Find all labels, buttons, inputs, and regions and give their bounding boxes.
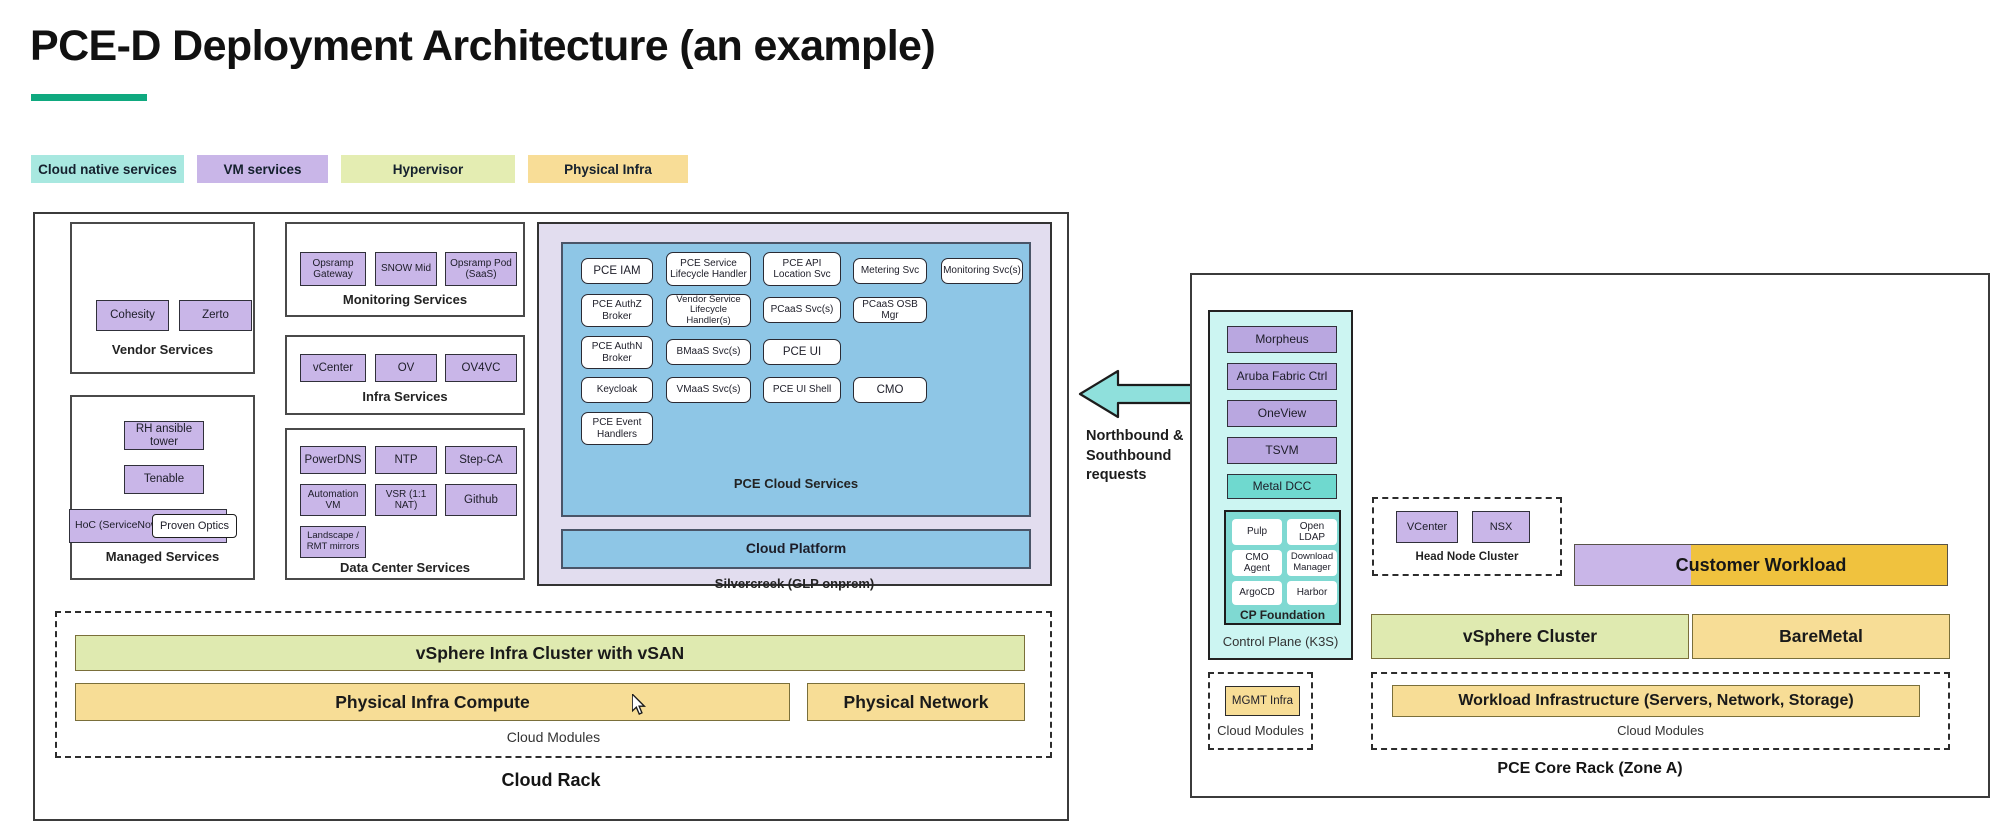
control-plane-box: Morpheus Aruba Fabric Ctrl OneView TSVM …: [1208, 310, 1353, 660]
node-cmo-agent[interactable]: CMO Agent: [1232, 550, 1282, 576]
node-monitoring-svcs[interactable]: Monitoring Svc(s): [941, 258, 1023, 284]
node-vcenter-head[interactable]: VCenter: [1396, 511, 1458, 543]
node-pcaas-svcs[interactable]: PCaaS Svc(s): [763, 297, 841, 323]
managed-services-box: RH ansible tower Tenable HoC (ServiceNow…: [70, 395, 255, 580]
node-pcaas-osb-mgr[interactable]: PCaaS OSB Mgr: [853, 297, 927, 323]
legend-item-hypervisor: Hypervisor: [341, 155, 515, 183]
mgmt-cloud-modules-caption: Cloud Modules: [1210, 723, 1311, 738]
node-vmaas-svcs[interactable]: VMaaS Svc(s): [666, 377, 751, 403]
customer-workload-label: Customer Workload: [1676, 555, 1847, 576]
node-zerto[interactable]: Zerto: [179, 300, 252, 331]
infra-services-caption: Infra Services: [287, 389, 523, 404]
node-cohesity[interactable]: Cohesity: [96, 300, 169, 331]
silvercreek-caption: Silvercreek (GLP onprem): [539, 576, 1050, 591]
monitoring-services-caption: Monitoring Services: [287, 292, 523, 307]
legend: Cloud native services VM services Hyperv…: [31, 155, 688, 183]
control-plane-caption: Control Plane (K3S): [1210, 634, 1351, 649]
workload-cloud-modules-caption: Cloud Modules: [1373, 723, 1948, 738]
node-bmaas-svcs[interactable]: BMaaS Svc(s): [666, 339, 751, 365]
node-snow-mid[interactable]: SNOW Mid: [375, 252, 437, 286]
node-vcenter[interactable]: vCenter: [300, 354, 366, 382]
node-nsx[interactable]: NSX: [1472, 511, 1530, 543]
node-pulp[interactable]: Pulp: [1232, 519, 1282, 545]
node-metal-dcc[interactable]: Metal DCC: [1227, 474, 1337, 499]
cloud-modules-left-caption: Cloud Modules: [57, 729, 1050, 745]
node-opsramp-gateway[interactable]: Opsramp Gateway: [300, 252, 366, 286]
infra-services-box: vCenter OV OV4VC Infra Services: [285, 335, 525, 415]
node-harbor[interactable]: Harbor: [1287, 581, 1337, 605]
node-ntp[interactable]: NTP: [375, 446, 437, 474]
vendor-services-box: Cohesity Zerto Vendor Services: [70, 222, 255, 374]
cp-foundation-box: Pulp Open LDAP CMO Agent Download Manage…: [1224, 510, 1341, 625]
node-rh-ansible-tower[interactable]: RH ansible tower: [124, 421, 204, 450]
mouse-cursor: [632, 694, 647, 716]
customer-workload-vm-segment: [1575, 545, 1691, 585]
vendor-services-caption: Vendor Services: [72, 342, 253, 357]
head-node-cluster-caption: Head Node Cluster: [1374, 551, 1560, 563]
node-cmo[interactable]: CMO: [853, 377, 927, 403]
node-ov[interactable]: OV: [375, 354, 437, 382]
node-metering-svc[interactable]: Metering Svc: [853, 258, 927, 284]
node-github[interactable]: Github: [445, 484, 517, 516]
workload-cloud-modules-box: Workload Infrastructure (Servers, Networ…: [1371, 672, 1950, 750]
managed-services-caption: Managed Services: [72, 549, 253, 564]
legend-item-vm-services: VM services: [197, 155, 328, 183]
mgmt-cloud-modules-box: MGMT Infra Cloud Modules: [1208, 672, 1313, 750]
node-landscape-rmt-mirrors[interactable]: Landscape / RMT mirrors: [300, 526, 366, 558]
node-pce-event-handlers[interactable]: PCE Event Handlers: [581, 412, 653, 445]
node-vendor-service-lifecycle-handlers[interactable]: Vendor Service Lifecycle Handler(s): [666, 294, 751, 327]
legend-item-physical-infra: Physical Infra: [528, 155, 688, 183]
physical-infra-compute-bar[interactable]: Physical Infra Compute: [75, 683, 790, 721]
node-ov4vc[interactable]: OV4VC: [445, 354, 517, 382]
node-aruba-fabric-ctrl[interactable]: Aruba Fabric Ctrl: [1227, 363, 1337, 390]
datacenter-services-caption: Data Center Services: [287, 560, 523, 575]
node-pce-authn-broker[interactable]: PCE AuthN Broker: [581, 336, 653, 369]
node-powerdns[interactable]: PowerDNS: [300, 446, 366, 474]
node-open-ldap[interactable]: Open LDAP: [1287, 519, 1337, 545]
pce-core-rack-caption: PCE Core Rack (Zone A): [1190, 760, 1990, 778]
cloud-modules-left-box: vSphere Infra Cluster with vSAN Physical…: [55, 611, 1052, 758]
node-keycloak[interactable]: Keycloak: [581, 377, 653, 403]
node-oneview[interactable]: OneView: [1227, 400, 1337, 427]
node-morpheus[interactable]: Morpheus: [1227, 326, 1337, 353]
diagram-canvas: PCE-D Deployment Architecture (an exampl…: [0, 0, 1998, 827]
datacenter-services-box: PowerDNS NTP Step-CA Automation VM VSR (…: [285, 428, 525, 580]
node-pce-service-lifecycle-handler[interactable]: PCE Service Lifecycle Handler: [666, 252, 751, 286]
node-download-manager[interactable]: Download Manager: [1287, 550, 1337, 576]
node-pce-ui[interactable]: PCE UI: [763, 339, 841, 365]
mgmt-infra-bar[interactable]: MGMT Infra: [1225, 686, 1300, 716]
node-tenable[interactable]: Tenable: [124, 465, 204, 494]
node-step-ca[interactable]: Step-CA: [445, 446, 517, 474]
head-node-cluster-box: VCenter NSX Head Node Cluster: [1372, 497, 1562, 576]
baremetal-bar[interactable]: BareMetal: [1692, 614, 1950, 659]
node-pce-authz-broker[interactable]: PCE AuthZ Broker: [581, 294, 653, 327]
node-tsvm[interactable]: TSVM: [1227, 437, 1337, 464]
pce-cloud-services-caption: PCE Cloud Services: [563, 476, 1029, 491]
physical-network-bar[interactable]: Physical Network: [807, 683, 1025, 721]
workload-infrastructure-bar[interactable]: Workload Infrastructure (Servers, Networ…: [1392, 685, 1920, 717]
pce-cloud-services-panel: PCE IAM PCE Service Lifecycle Handler PC…: [561, 242, 1031, 517]
monitoring-services-box: Opsramp Gateway SNOW Mid Opsramp Pod (Sa…: [285, 222, 525, 317]
node-argocd[interactable]: ArgoCD: [1232, 581, 1282, 605]
cloud-rack-caption: Cloud Rack: [33, 770, 1069, 791]
node-pce-api-location-svc[interactable]: PCE API Location Svc: [763, 252, 841, 286]
customer-workload-bar[interactable]: Customer Workload: [1574, 544, 1948, 586]
node-pce-ui-shell[interactable]: PCE UI Shell: [763, 377, 841, 403]
node-vsr-nat[interactable]: VSR (1:1 NAT): [375, 484, 437, 516]
node-automation-vm[interactable]: Automation VM: [300, 484, 366, 516]
node-pce-iam[interactable]: PCE IAM: [581, 258, 653, 284]
cloud-platform-bar[interactable]: Cloud Platform: [561, 529, 1031, 569]
node-proven-optics[interactable]: Proven Optics: [152, 514, 237, 538]
silvercreek-panel: PCE IAM PCE Service Lifecycle Handler PC…: [537, 222, 1052, 586]
page-title: PCE-D Deployment Architecture (an exampl…: [30, 22, 935, 71]
vsphere-cluster-bar[interactable]: vSphere Cluster: [1371, 614, 1689, 659]
vsphere-infra-cluster-bar[interactable]: vSphere Infra Cluster with vSAN: [75, 635, 1025, 671]
legend-item-cloud-native: Cloud native services: [31, 155, 184, 183]
node-opsramp-pod-saas[interactable]: Opsramp Pod (SaaS): [445, 252, 517, 286]
title-accent-rule: [31, 94, 147, 101]
cp-foundation-caption: CP Foundation: [1226, 608, 1339, 622]
connector-label: Northbound & Southbound requests: [1086, 427, 1206, 486]
